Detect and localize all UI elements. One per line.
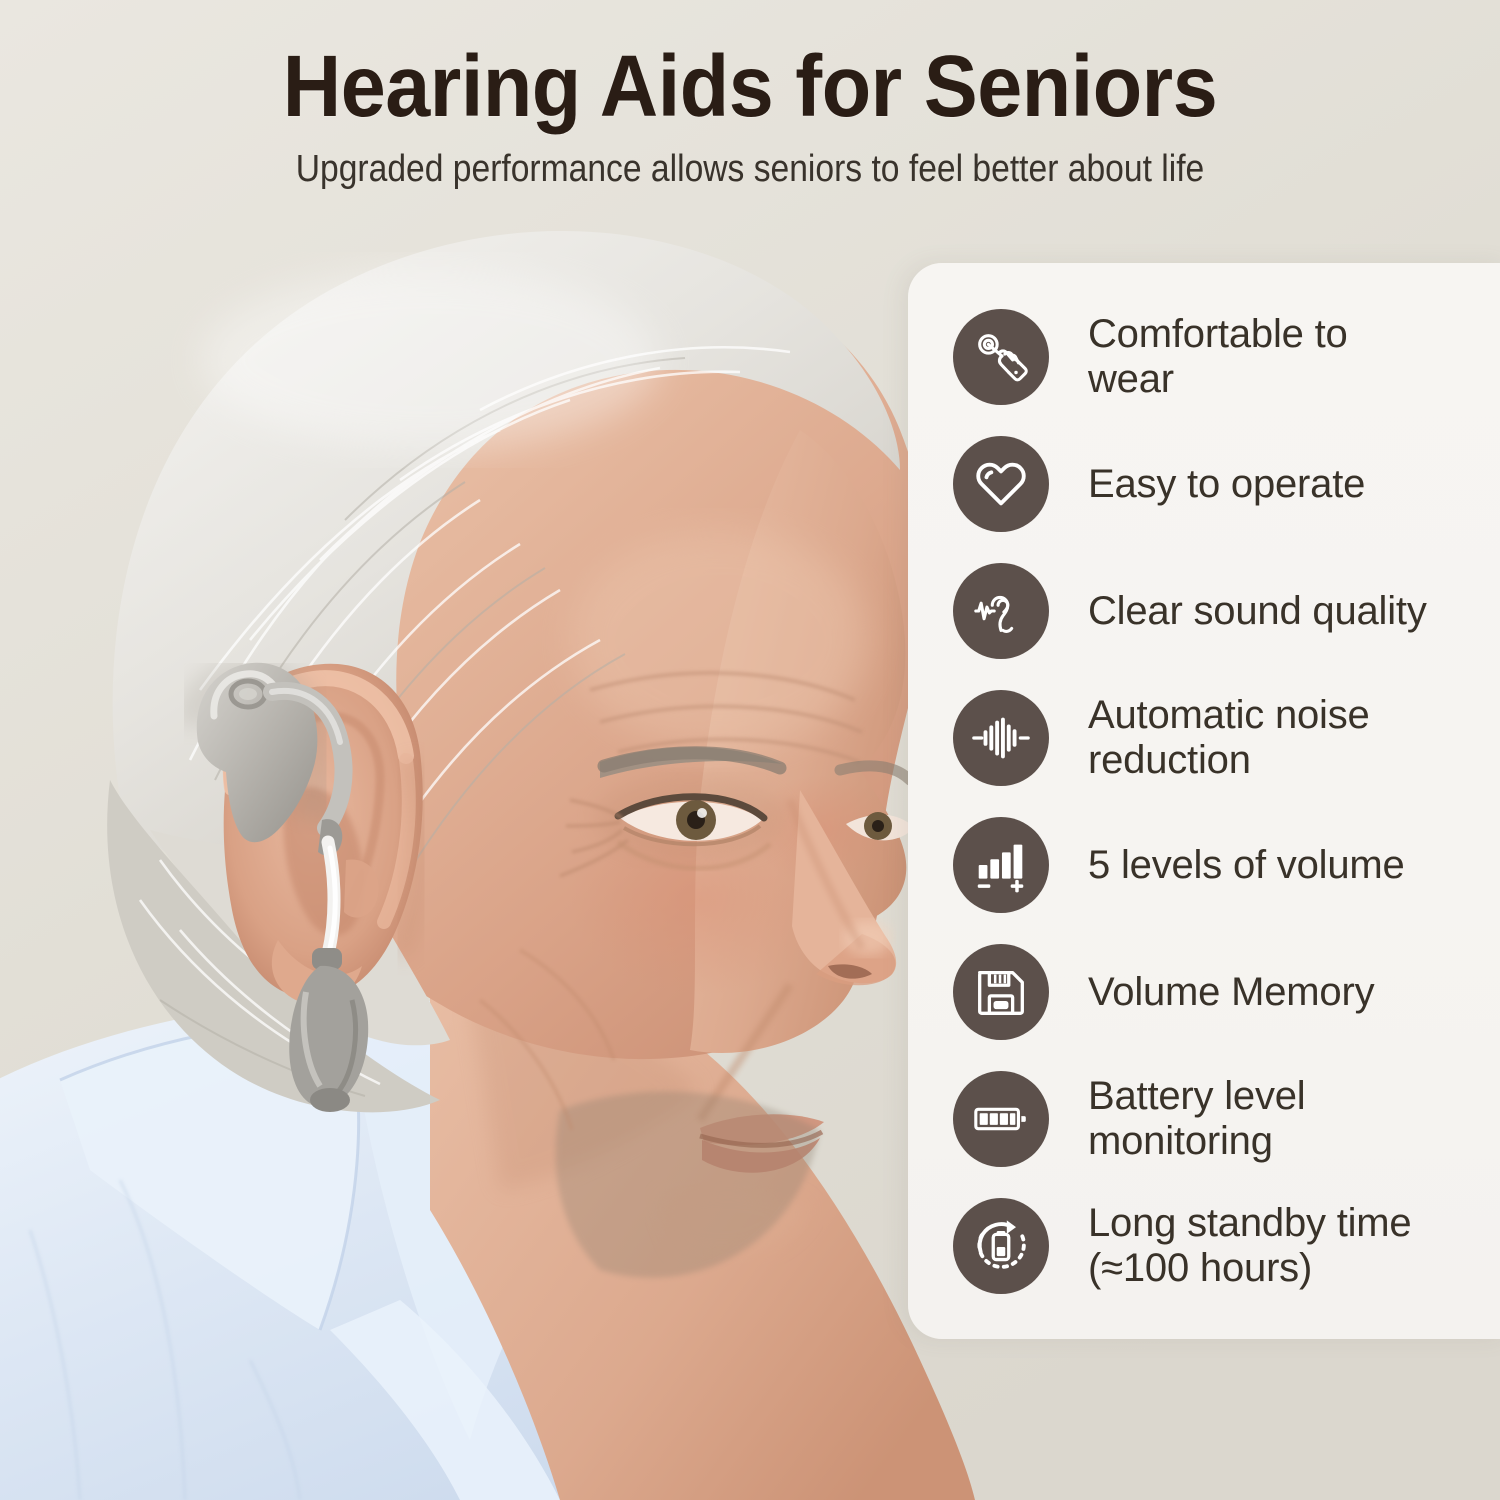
ear-soundwave-icon <box>953 563 1049 659</box>
feature-list: Comfortable to wear Easy to operate <box>908 263 1500 1339</box>
feature-item-automatic-noise-reduction[interactable]: Automatic noise reduction <box>953 690 1498 786</box>
feature-label: Battery level monitoring <box>1088 1074 1306 1164</box>
feature-label: Clear sound quality <box>1088 589 1427 634</box>
header: Hearing Aids for Seniors Upgraded perfor… <box>0 0 1500 190</box>
feature-label: 5 levels of volume <box>1088 843 1405 888</box>
feature-item-battery-level-monitoring[interactable]: Battery level monitoring <box>953 1071 1498 1167</box>
feature-item-volume-memory[interactable]: Volume Memory <box>953 944 1498 1040</box>
feature-item-clear-sound-quality[interactable]: Clear sound quality <box>953 563 1498 659</box>
feature-item-comfortable-to-wear[interactable]: Comfortable to wear <box>953 309 1498 405</box>
page-subtitle: Upgraded performance allows seniors to f… <box>86 130 1414 190</box>
touch-hand-icon <box>953 309 1049 405</box>
feature-item-long-standby-time[interactable]: Long standby time (≈100 hours) <box>953 1198 1498 1294</box>
standby-rotate-icon <box>953 1198 1049 1294</box>
page-title: Hearing Aids for Seniors <box>53 0 1448 130</box>
feature-panel: Comfortable to wear Easy to operate <box>908 263 1500 1339</box>
noise-waveform-icon <box>953 690 1049 786</box>
battery-level-icon <box>953 1071 1049 1167</box>
feature-label: Volume Memory <box>1088 970 1374 1015</box>
feature-item-easy-to-operate[interactable]: Easy to operate <box>953 436 1498 532</box>
feature-label: Long standby time (≈100 hours) <box>1088 1201 1411 1291</box>
feature-label: Automatic noise reduction <box>1088 693 1370 783</box>
feature-label: Comfortable to wear <box>1088 312 1348 402</box>
feature-item-5-levels-of-volume[interactable]: 5 levels of volume <box>953 817 1498 913</box>
feature-label: Easy to operate <box>1088 462 1365 507</box>
floppy-disk-icon <box>953 944 1049 1040</box>
volume-bars-icon <box>953 817 1049 913</box>
infographic-canvas: Hearing Aids for Seniors Upgraded perfor… <box>0 0 1500 1500</box>
heart-icon <box>953 436 1049 532</box>
